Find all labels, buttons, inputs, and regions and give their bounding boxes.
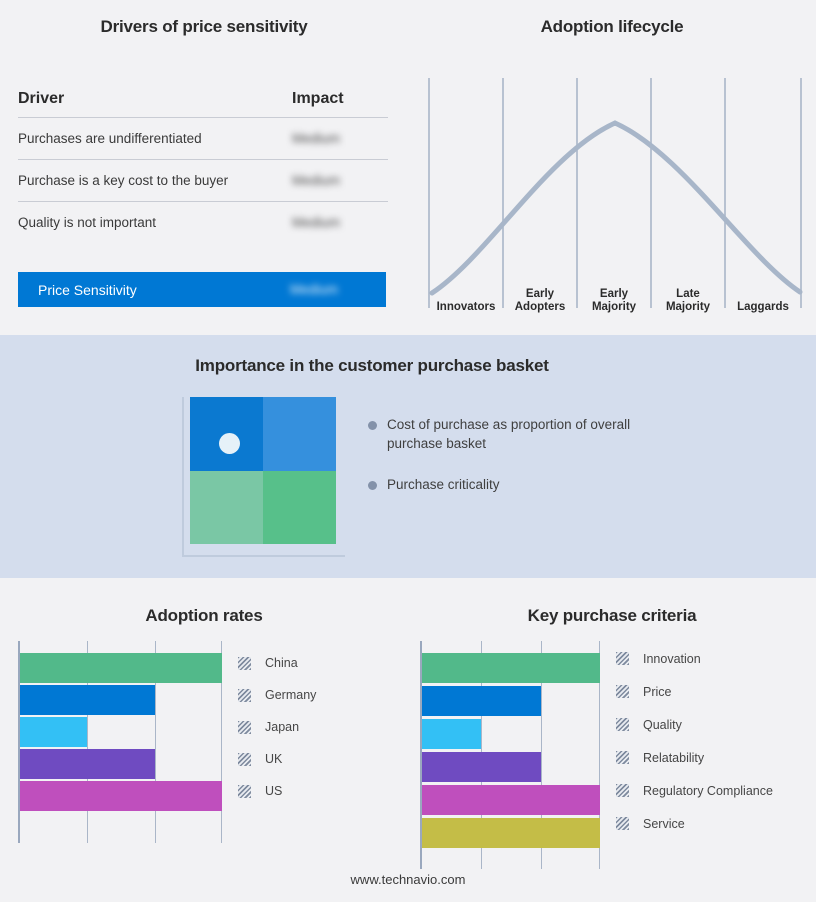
key-purchase-criteria-title: Key purchase criteria: [408, 606, 816, 626]
bullet-dot-icon: [368, 481, 377, 490]
bar-row: [422, 818, 600, 848]
lifecycle-stage-late-majority: LateMajority: [651, 288, 725, 314]
drivers-panel-title: Drivers of price sensitivity: [0, 17, 408, 37]
adoption-rates-panel: Adoption rates ChinaGermanyJapanUKUS: [0, 578, 408, 902]
hatched-square-icon: [238, 657, 251, 670]
lifecycle-stage-innovators: Innovators: [429, 301, 503, 314]
bar-germany: [20, 685, 155, 715]
bar-quality: [422, 719, 481, 749]
hatched-square-icon: [238, 753, 251, 766]
top-section: Drivers of price sensitivity Driver Impa…: [0, 0, 816, 335]
legend-item: Price: [616, 675, 773, 708]
quadrant-cell-top-right: [263, 397, 336, 471]
legend-label: Relatability: [643, 751, 704, 765]
impact-value-redacted: Medium: [292, 215, 388, 230]
adoption-lifecycle-panel: Adoption lifecycle Innovators EarlyAdopt…: [408, 0, 816, 335]
lifecycle-stage-dividers: [429, 78, 801, 308]
bar-innovation: [422, 653, 600, 683]
bar-japan: [20, 717, 87, 747]
impact-value-redacted: Medium: [292, 131, 388, 146]
bar-relatability: [422, 752, 541, 782]
legend-item: Cost of purchase as proportion of overal…: [368, 415, 668, 453]
drivers-panel: Drivers of price sensitivity Driver Impa…: [0, 0, 408, 335]
table-row: Purchase is a key cost to the buyer Medi…: [18, 160, 388, 202]
legend-label: Quality: [643, 718, 682, 732]
hatched-square-icon: [238, 785, 251, 798]
adoption-rates-legend: ChinaGermanyJapanUKUS: [238, 647, 316, 807]
purchase-basket-legend: Cost of purchase as proportion of overal…: [368, 415, 668, 516]
hatched-square-icon: [238, 721, 251, 734]
adoption-rates-title: Adoption rates: [0, 606, 408, 626]
legend-label: UK: [265, 752, 282, 766]
column-header-impact: Impact: [292, 90, 388, 108]
table-row: Purchases are undifferentiated Medium: [18, 118, 388, 160]
quadrant-grid: [190, 397, 336, 544]
legend-item: China: [238, 647, 316, 679]
legend-item: Service: [616, 807, 773, 840]
legend-item: UK: [238, 743, 316, 775]
legend-label: US: [265, 784, 282, 798]
legend-label: Service: [643, 817, 685, 831]
quadrant-position-marker: [219, 433, 240, 454]
bar-row: [422, 719, 600, 749]
bullet-dot-icon: [368, 421, 377, 430]
legend-label: Price: [643, 685, 671, 699]
lifecycle-stage-laggards: Laggards: [725, 301, 801, 314]
adoption-lifecycle-title: Adoption lifecycle: [408, 17, 816, 37]
bar-service: [422, 818, 600, 848]
legend-item: Relatability: [616, 741, 773, 774]
legend-item: Germany: [238, 679, 316, 711]
bar-row: [422, 752, 600, 782]
legend-item: US: [238, 775, 316, 807]
hatched-square-icon: [616, 718, 629, 731]
impact-value-redacted: Medium: [292, 173, 388, 188]
hatched-square-icon: [616, 784, 629, 797]
purchase-basket-section: Importance in the customer purchase bask…: [0, 335, 816, 578]
quadrant-chart: [182, 397, 345, 557]
table-row: Quality is not important Medium: [18, 202, 388, 243]
legend-label: China: [265, 656, 298, 670]
bottom-section: Adoption rates ChinaGermanyJapanUKUS Key…: [0, 578, 816, 902]
bar-row: [422, 686, 600, 716]
lifecycle-stage-early-majority: EarlyMajority: [577, 288, 651, 314]
hatched-square-icon: [616, 751, 629, 764]
bar-row: [20, 749, 222, 779]
legend-item: Japan: [238, 711, 316, 743]
bar-price: [422, 686, 541, 716]
purchase-basket-title: Importance in the customer purchase bask…: [0, 356, 744, 376]
driver-label: Purchase is a key cost to the buyer: [18, 173, 292, 188]
drivers-table: Driver Impact Purchases are undifferenti…: [18, 90, 388, 243]
bar-regulatory-compliance: [422, 785, 600, 815]
summary-impact-value-redacted: Medium: [290, 282, 386, 297]
quadrant-cell-bottom-left: [190, 471, 263, 545]
legend-label: Japan: [265, 720, 299, 734]
lifecycle-stage-labels: Innovators EarlyAdopters EarlyMajority L…: [428, 280, 803, 314]
bar-row: [20, 781, 222, 811]
adoption-rates-bar-chart: [18, 641, 222, 843]
legend-label: Regulatory Compliance: [643, 784, 773, 798]
legend-label: Innovation: [643, 652, 701, 666]
legend-item: Purchase criticality: [368, 475, 668, 494]
bar-row: [422, 653, 600, 683]
legend-item: Regulatory Compliance: [616, 774, 773, 807]
bar-uk: [20, 749, 155, 779]
key-purchase-criteria-legend: InnovationPriceQualityRelatabilityRegula…: [616, 642, 773, 840]
adoption-lifecycle-curve-chart: [428, 78, 803, 308]
bar-row: [20, 717, 222, 747]
summary-label: Price Sensitivity: [18, 282, 290, 298]
hatched-square-icon: [616, 685, 629, 698]
legend-label: Cost of purchase as proportion of overal…: [387, 415, 645, 453]
hatched-square-icon: [616, 817, 629, 830]
key-purchase-criteria-bar-chart: [420, 641, 600, 869]
bar-row: [20, 653, 222, 683]
legend-item: Innovation: [616, 642, 773, 675]
hatched-square-icon: [238, 689, 251, 702]
bar-china: [20, 653, 222, 683]
legend-label: Germany: [265, 688, 316, 702]
hatched-square-icon: [616, 652, 629, 665]
table-header-row: Driver Impact: [18, 90, 388, 118]
column-header-driver: Driver: [18, 90, 292, 108]
price-sensitivity-summary-row: Price Sensitivity Medium: [18, 272, 386, 307]
quadrant-cell-bottom-right: [263, 471, 336, 545]
driver-label: Purchases are undifferentiated: [18, 131, 292, 146]
bar-row: [20, 685, 222, 715]
lifecycle-stage-early-adopters: EarlyAdopters: [503, 288, 577, 314]
footer-website-url: www.technavio.com: [0, 872, 816, 887]
driver-label: Quality is not important: [18, 215, 292, 230]
adoption-bell-curve: [432, 123, 800, 293]
legend-item: Quality: [616, 708, 773, 741]
bar-row: [422, 785, 600, 815]
key-purchase-criteria-panel: Key purchase criteria InnovationPriceQua…: [408, 578, 816, 902]
bar-us: [20, 781, 222, 811]
legend-label: Purchase criticality: [387, 475, 500, 494]
